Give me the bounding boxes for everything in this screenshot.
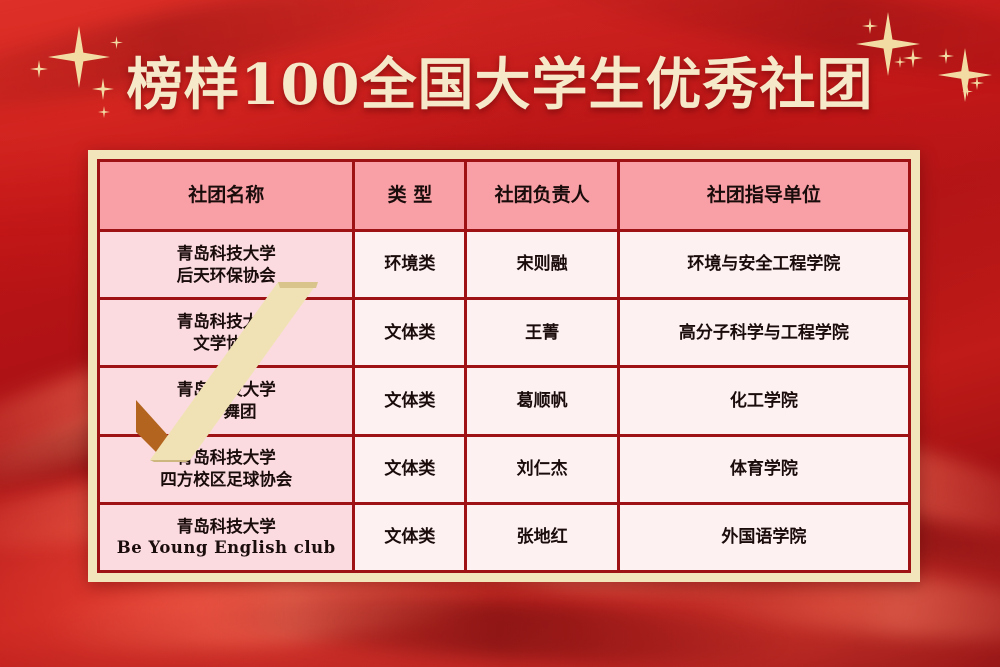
column-header-leader: 社团负责人 <box>466 161 618 231</box>
cell-category: 环境类 <box>354 231 466 299</box>
table-row: 青岛科技大学文学协会文体类王菁高分子科学与工程学院 <box>99 299 910 367</box>
cell-leader: 葛顺帆 <box>466 367 618 435</box>
club-name-line-1: 青岛科技大学 <box>100 379 352 401</box>
cell-category: 文体类 <box>354 435 466 503</box>
table-row: 青岛科技大学Be Young English club文体类张地红外国语学院 <box>99 503 910 571</box>
cell-club-name: 青岛科技大学四方校区足球协会 <box>99 435 354 503</box>
club-name-line-1: 青岛科技大学 <box>100 516 352 538</box>
cell-advising-unit: 体育学院 <box>618 435 909 503</box>
club-name-line-2: 后天环保协会 <box>100 265 352 287</box>
table-row: 青岛科技大学DC舞团文体类葛顺帆化工学院 <box>99 367 910 435</box>
club-name-line-2: Be Young English club <box>100 537 352 559</box>
column-header-category: 类 型 <box>354 161 466 231</box>
club-name-line-2: DC舞团 <box>100 401 352 423</box>
cell-category: 文体类 <box>354 299 466 367</box>
club-name-line-1: 青岛科技大学 <box>100 243 352 265</box>
cell-advising-unit: 化工学院 <box>618 367 909 435</box>
table-header: 社团名称 类 型 社团负责人 社团指导单位 <box>99 161 910 231</box>
cell-leader: 刘仁杰 <box>466 435 618 503</box>
cell-leader: 王菁 <box>466 299 618 367</box>
club-name-line-1: 青岛科技大学 <box>100 311 352 333</box>
cell-category: 文体类 <box>354 367 466 435</box>
cell-club-name: 青岛科技大学Be Young English club <box>99 503 354 571</box>
column-header-advising-unit: 社团指导单位 <box>618 161 909 231</box>
cell-club-name: 青岛科技大学后天环保协会 <box>99 231 354 299</box>
cell-advising-unit: 外国语学院 <box>618 503 909 571</box>
table-frame: 社团名称 类 型 社团负责人 社团指导单位 青岛科技大学后天环保协会环境类宋则融… <box>88 150 920 582</box>
cell-advising-unit: 环境与安全工程学院 <box>618 231 909 299</box>
column-header-club-name: 社团名称 <box>99 161 354 231</box>
cell-club-name: 青岛科技大学文学协会 <box>99 299 354 367</box>
cell-club-name: 青岛科技大学DC舞团 <box>99 367 354 435</box>
table-body: 青岛科技大学后天环保协会环境类宋则融环境与安全工程学院青岛科技大学文学协会文体类… <box>99 231 910 572</box>
cell-leader: 张地红 <box>466 503 618 571</box>
cell-advising-unit: 高分子科学与工程学院 <box>618 299 909 367</box>
table-header-row: 社团名称 类 型 社团负责人 社团指导单位 <box>99 161 910 231</box>
cell-category: 文体类 <box>354 503 466 571</box>
table-row: 青岛科技大学四方校区足球协会文体类刘仁杰体育学院 <box>99 435 910 503</box>
club-name-line-2: 文学协会 <box>100 333 352 355</box>
club-name-line-2: 四方校区足球协会 <box>100 469 352 491</box>
excellent-student-clubs-table: 社团名称 类 型 社团负责人 社团指导单位 青岛科技大学后天环保协会环境类宋则融… <box>97 159 911 573</box>
page-title: 榜样100全国大学生优秀社团 <box>0 40 1000 121</box>
table-row: 青岛科技大学后天环保协会环境类宋则融环境与安全工程学院 <box>99 231 910 299</box>
cell-leader: 宋则融 <box>466 231 618 299</box>
club-name-line-1: 青岛科技大学 <box>100 447 352 469</box>
